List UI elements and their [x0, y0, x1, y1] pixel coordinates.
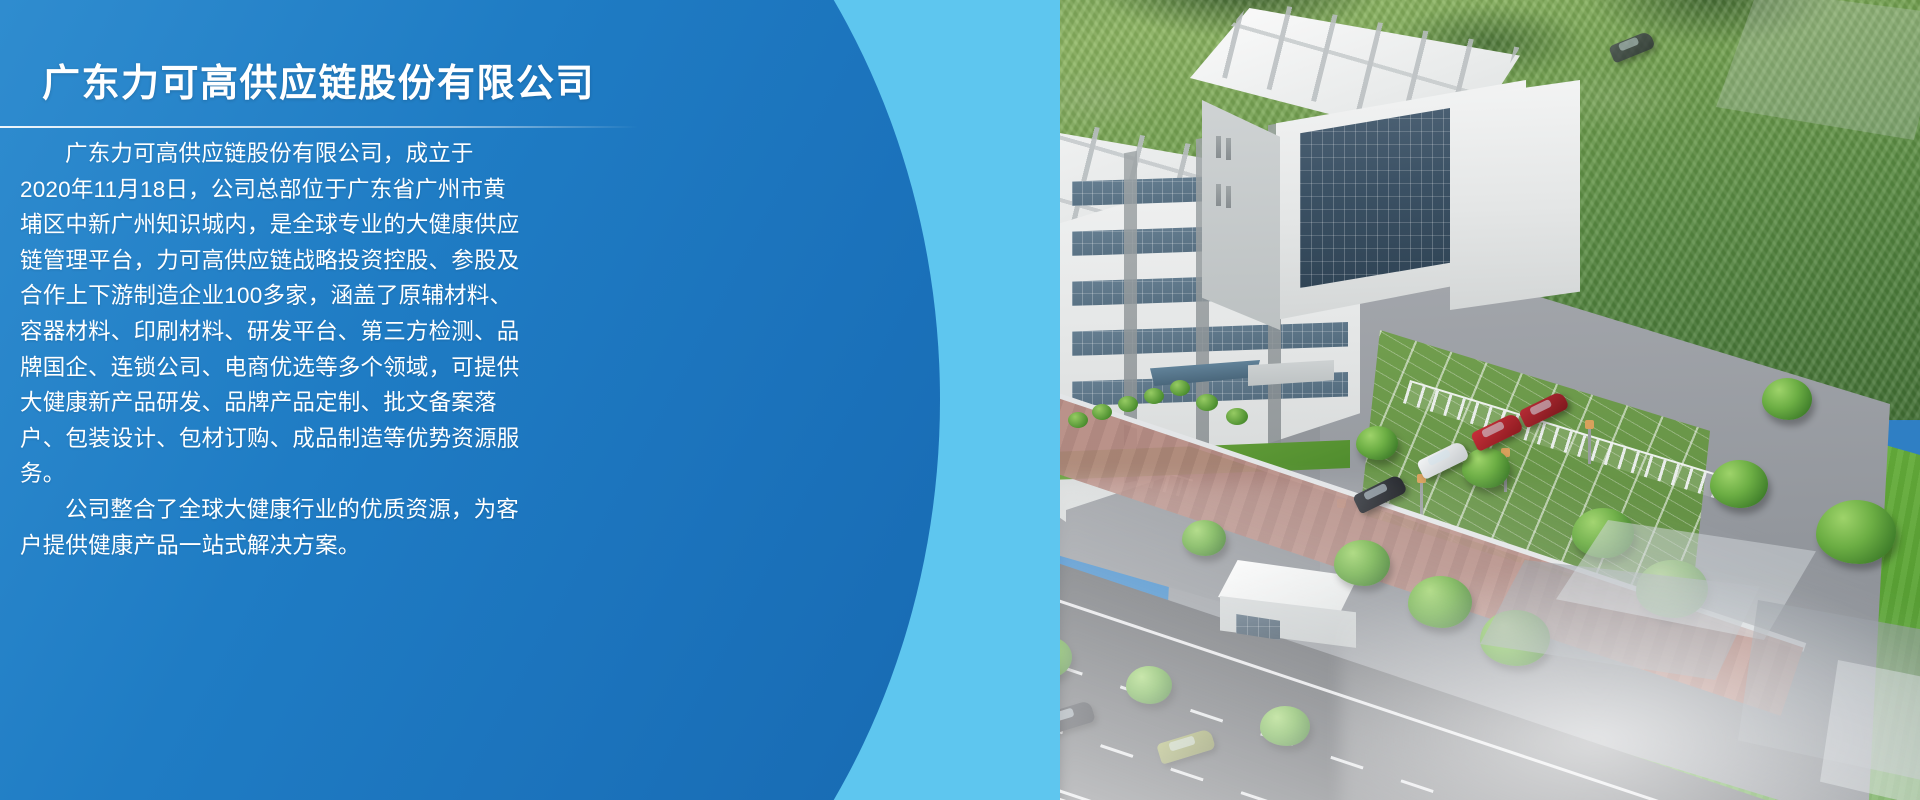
lamp-post — [1588, 426, 1591, 464]
rear-building-right-wing — [1450, 80, 1580, 310]
rear-window-slot — [1216, 184, 1221, 206]
shrub — [1226, 408, 1248, 425]
shrub — [1068, 412, 1088, 428]
description-paragraph-1: 广东力可高供应链股份有限公司，成立于2020年11月18日，公司总部位于广东省广… — [20, 136, 520, 492]
title-divider — [0, 126, 638, 128]
rear-curtain-wall — [1300, 108, 1450, 288]
page-title: 广东力可高供应链股份有限公司 — [42, 52, 595, 107]
shrub — [1196, 394, 1218, 411]
rear-window-slot — [1216, 136, 1221, 158]
shrub — [1170, 380, 1190, 396]
company-description: 广东力可高供应链股份有限公司，成立于2020年11月18日，公司总部位于广东省广… — [20, 136, 520, 563]
shrub — [1118, 396, 1138, 412]
tree — [1762, 378, 1812, 420]
rear-window-slot — [1226, 138, 1231, 160]
shrub — [1092, 404, 1112, 420]
text-content: 广东力可高供应链股份有限公司 广东力可高供应链股份有限公司，成立于2020年11… — [0, 0, 660, 800]
tree — [1356, 426, 1398, 460]
rear-stair-tower — [1202, 100, 1280, 330]
description-paragraph-2: 公司整合了全球大健康行业的优质资源，为客户提供健康产品一站式解决方案。 — [20, 492, 520, 563]
promo-banner: 广东力可高供应链股份有限公司 广东力可高供应链股份有限公司，成立于2020年11… — [0, 0, 1920, 800]
shrub — [1144, 388, 1164, 404]
rear-window-slot — [1226, 186, 1231, 208]
atmospheric-haze — [1340, 560, 1920, 800]
